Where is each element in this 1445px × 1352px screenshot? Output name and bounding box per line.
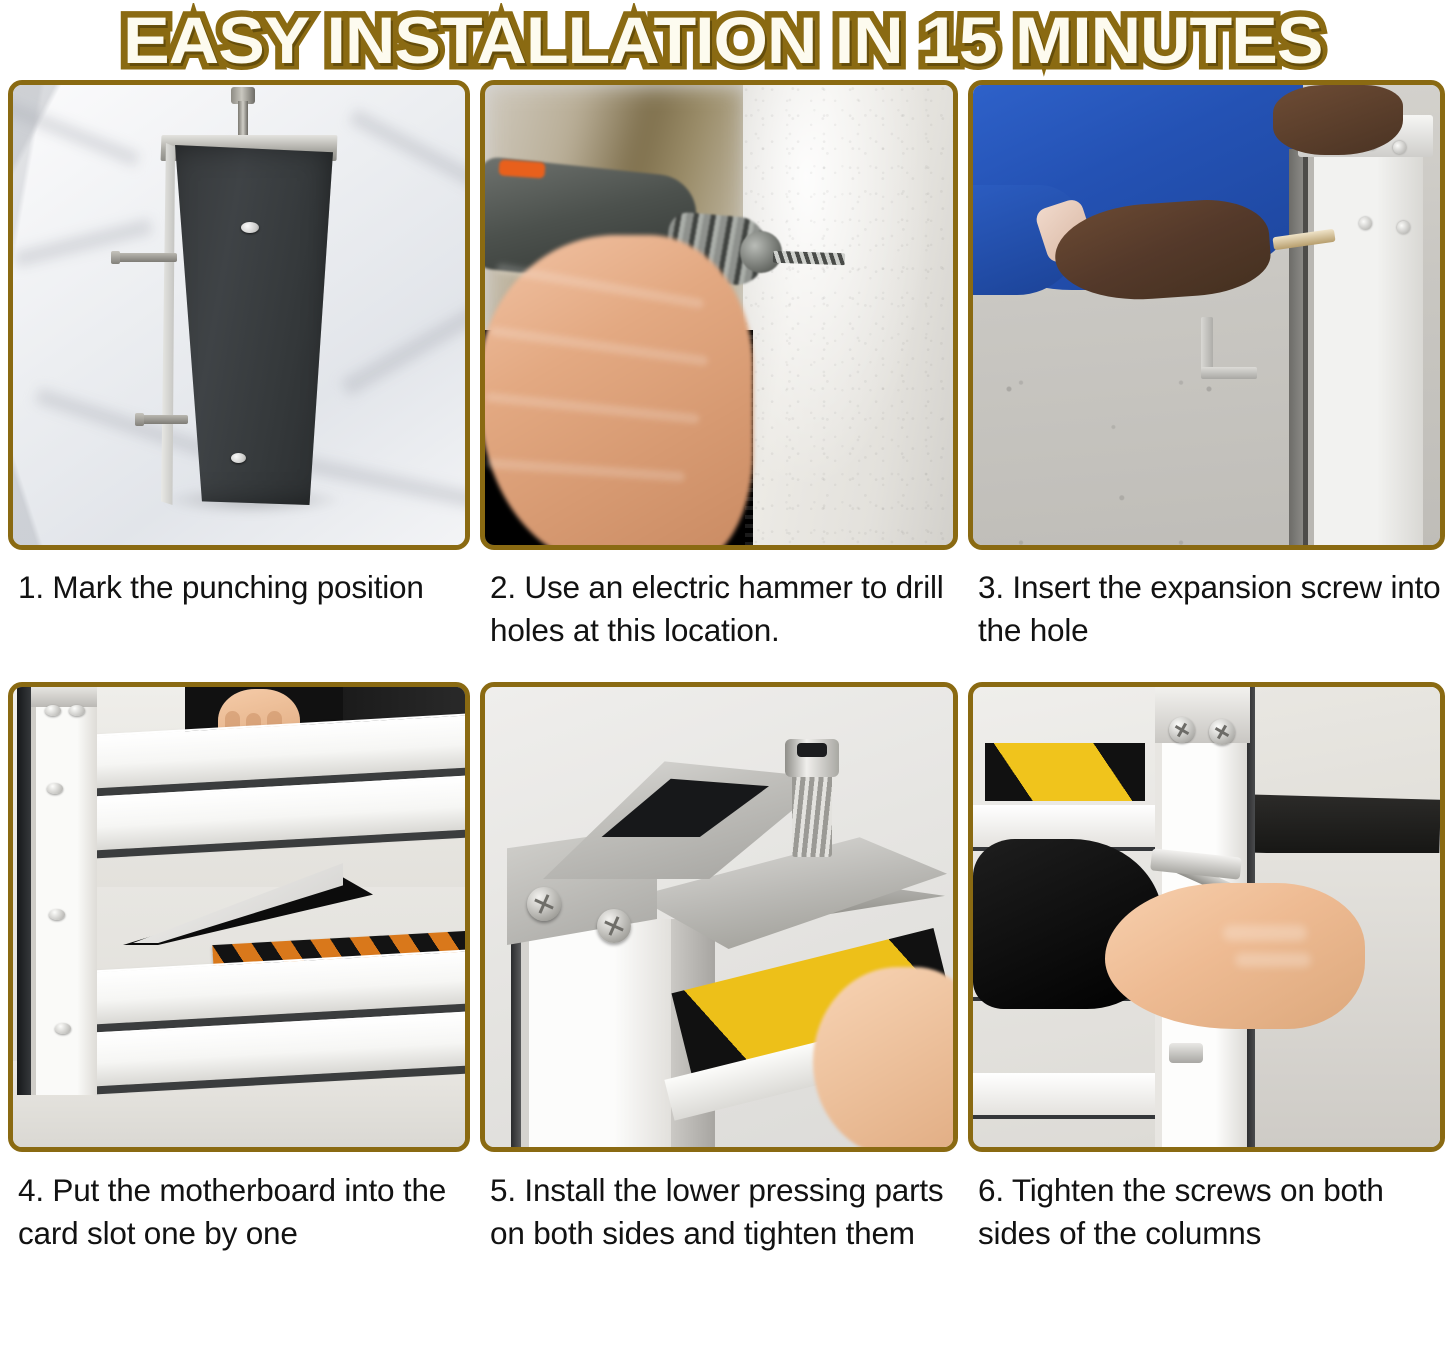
step-photo-frame-4 (8, 682, 470, 1152)
step-card-3: 3. Insert the expansion screw into the h… (968, 80, 1445, 652)
step-photo-5 (485, 687, 953, 1147)
step-caption-3: 3. Insert the expansion screw into the h… (968, 550, 1445, 652)
step-caption-5: 5. Install the lower pressing parts on b… (480, 1152, 958, 1255)
step-photo-frame-3 (968, 80, 1445, 550)
step-card-1: 1. Mark the punching position (8, 80, 470, 652)
page-title: EASY INSTALLATION IN 15 MINUTES (123, 5, 1322, 75)
step-photo-1 (13, 85, 465, 545)
step-card-2: 2. Use an electric hammer to drill holes… (480, 80, 958, 652)
step-photo-4 (13, 687, 465, 1147)
steps-grid: 1. Mark the punching position 2. Use an … (0, 80, 1445, 1255)
step-photo-frame-6 (968, 682, 1445, 1152)
step-photo-6 (973, 687, 1440, 1147)
step-photo-frame-1 (8, 80, 470, 550)
step-photo-frame-2 (480, 80, 958, 550)
step-caption-2: 2. Use an electric hammer to drill holes… (480, 550, 958, 652)
step-caption-6: 6. Tighten the screws on both sides of t… (968, 1152, 1445, 1255)
step-photo-3 (973, 85, 1440, 545)
step-caption-1: 1. Mark the punching position (8, 550, 470, 609)
header-title-bar: EASY INSTALLATION IN 15 MINUTES (0, 0, 1445, 80)
step-photo-frame-5 (480, 682, 958, 1152)
step-card-5: 5. Install the lower pressing parts on b… (480, 682, 958, 1255)
step-card-6: 6. Tighten the screws on both sides of t… (968, 682, 1445, 1255)
step-photo-2 (485, 85, 953, 545)
step-caption-4: 4. Put the motherboard into the card slo… (8, 1152, 470, 1255)
step-card-4: 4. Put the motherboard into the card slo… (8, 682, 470, 1255)
